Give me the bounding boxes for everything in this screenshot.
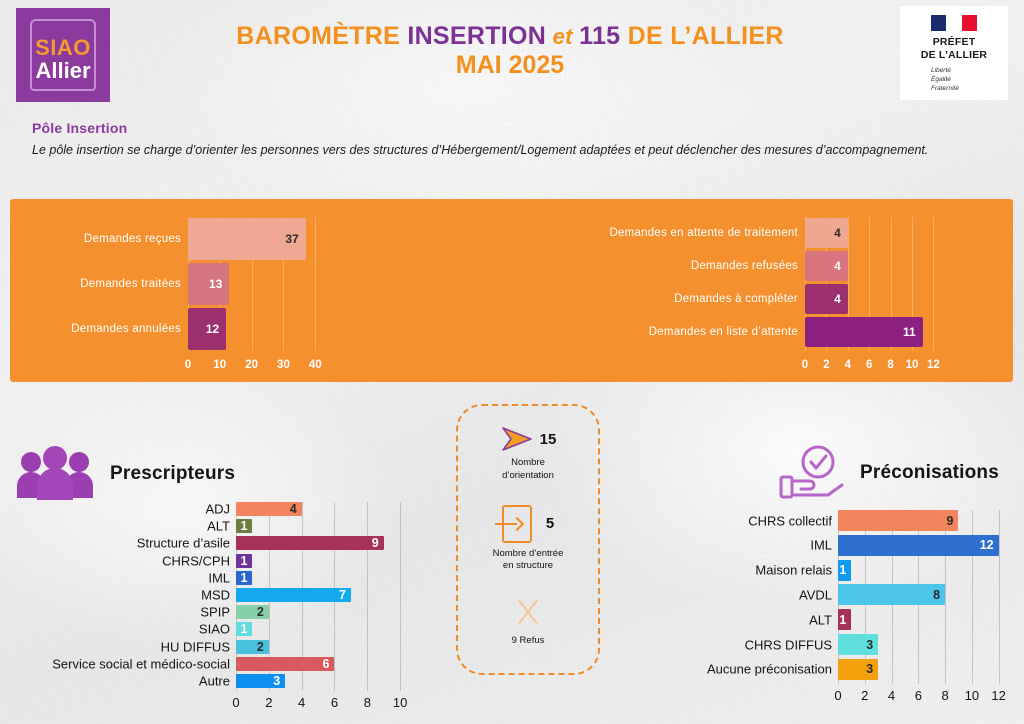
chart-preconisations: CHRS collectif9IML12Maison relais1AVDL8A… <box>838 510 1008 716</box>
card-item-orientation: 15 Nombre d’orientation <box>500 426 557 483</box>
entree-caption-1: Nombre d’entrée <box>493 548 564 561</box>
bar-label: Structure d’asile <box>137 536 230 551</box>
axis-tick: 0 <box>834 688 841 703</box>
bar-value: 4 <box>290 502 297 516</box>
chart-row: CHRS collectif9 <box>838 510 1008 531</box>
chart-row: SIAO1 <box>236 622 410 636</box>
demandes-panel: 37Demandes reçues13Demandes traitées12De… <box>10 199 1013 382</box>
entree-caption-2: en structure <box>493 560 564 573</box>
bar-label: IML <box>208 570 230 585</box>
axis-tick: 6 <box>331 695 338 710</box>
bar-chrs-cph: 1 <box>236 554 252 568</box>
axis-tick: 6 <box>915 688 922 703</box>
chart-demandes-droite: 4Demandes en attente de traitement4Deman… <box>805 199 942 382</box>
bar-value: 2 <box>257 640 264 654</box>
bar-chrs-diffus: 3 <box>838 634 878 655</box>
hand-check-icon <box>778 444 846 502</box>
bar-demandes-trait-es: 13 <box>188 263 229 305</box>
orientation-caption-2: d’orientation <box>502 470 554 483</box>
chart-row: IML12 <box>838 535 1008 556</box>
french-flag-icon <box>931 15 977 31</box>
axis-tick: 10 <box>906 359 919 371</box>
section-title-pole-insertion: Pôle Insertion <box>32 120 127 136</box>
bar-label: ADJ <box>205 502 230 517</box>
bar-value: 12 <box>980 538 994 552</box>
bar-label: ALT <box>207 519 230 534</box>
bar-hu-diffus: 2 <box>236 640 269 654</box>
axis-tick: 10 <box>213 359 226 371</box>
prefet-line1: PRÉFET <box>921 36 987 49</box>
bar-value: 2 <box>257 605 264 619</box>
axis-tick: 2 <box>823 359 829 371</box>
prefet-motto-2: Égalité <box>931 75 977 84</box>
bar-value: 11 <box>903 325 916 339</box>
axis-tick: 4 <box>845 359 851 371</box>
bar-value: 3 <box>866 662 873 676</box>
bar-label: Autre <box>199 674 230 689</box>
cross-icon <box>513 597 543 627</box>
bar-maison-relais: 1 <box>838 560 851 581</box>
siao-logo-line1: SIAO <box>35 37 91 59</box>
axis-tick: 0 <box>802 359 808 371</box>
bar-label: Demandes traitées <box>80 278 181 290</box>
chart-row: CHRS DIFFUS3 <box>838 634 1008 655</box>
title-part-barometre: BAROMÈTRE <box>236 22 407 50</box>
bar-label: Demandes refusées <box>691 260 798 272</box>
house-outline-icon: SIAO Allier <box>30 19 96 91</box>
bar-msd: 7 <box>236 588 351 602</box>
chart-row: HU DIFFUS2 <box>236 640 410 654</box>
bar-value: 9 <box>947 514 954 528</box>
chart-row: IML1 <box>236 571 410 585</box>
chart-prescripteurs: ADJ4ALT1Structure d’asile9CHRS/CPH1IML1M… <box>236 502 410 716</box>
x-axis: 024681012 <box>805 359 942 373</box>
bar-value: 1 <box>839 613 846 627</box>
axis-tick: 6 <box>866 359 872 371</box>
title-part-allier: DE L’ALLIER <box>620 22 783 50</box>
orientation-caption-1: Nombre <box>502 457 554 470</box>
bar-value: 4 <box>834 292 841 306</box>
bar-adj: 4 <box>236 502 302 516</box>
x-axis: 0246810 <box>236 695 410 711</box>
bar-structure-d-asile: 9 <box>236 536 384 550</box>
chart-row: SPIP2 <box>236 605 410 619</box>
refus-caption: 9 Refus <box>512 635 545 648</box>
section-description: Le pôle insertion se charge d’orienter l… <box>32 141 962 160</box>
chart-row: ADJ4 <box>236 502 410 516</box>
bar-alt: 1 <box>236 519 252 533</box>
axis-tick: 2 <box>265 695 272 710</box>
prefet-motto-1: Liberté <box>931 66 977 75</box>
entree-value: 5 <box>546 515 554 532</box>
bar-label: Maison relais <box>755 563 832 578</box>
axis-tick: 12 <box>991 688 1005 703</box>
chart-row: ALT1 <box>236 519 410 533</box>
bar-demandes-en-attente-de-traitement: 4 <box>805 218 848 248</box>
bar-value: 3 <box>273 674 280 688</box>
prefet-motto-3: Fraternité <box>931 84 977 93</box>
axis-tick: 20 <box>245 359 258 371</box>
people-group-icon <box>14 446 96 502</box>
bar-demandes-re-ues: 37 <box>188 218 306 260</box>
bar-label: ALT <box>809 612 832 627</box>
bar-demandes-compl-ter: 4 <box>805 284 848 314</box>
bar-label: HU DIFFUS <box>161 639 230 654</box>
siao-logo: SIAO Allier <box>16 8 110 102</box>
bar-label: IML <box>810 538 832 553</box>
bar-value: 37 <box>285 232 298 246</box>
prefet-line2: DE L’ALLIER <box>921 49 987 62</box>
axis-tick: 2 <box>861 688 868 703</box>
bar-label: Demandes à compléter <box>674 293 798 305</box>
chart-row: CHRS/CPH1 <box>236 554 410 568</box>
bar-label: CHRS/CPH <box>162 553 230 568</box>
bar-label: SIAO <box>199 622 230 637</box>
prescripteurs-header: Prescripteurs <box>14 446 235 502</box>
bar-value: 4 <box>834 259 841 273</box>
title-line-1: BAROMÈTRE INSERTION et 115 DE L’ALLIER <box>150 22 870 51</box>
chart-row: Autre3 <box>236 674 410 688</box>
axis-tick: 0 <box>232 695 239 710</box>
title-subtitle: MAI 2025 <box>150 51 870 80</box>
axis-tick: 0 <box>185 359 191 371</box>
bar-label: Demandes en attente de traitement <box>609 227 798 239</box>
bar-label: Aucune préconisation <box>707 662 832 677</box>
bar-value: 4 <box>834 226 841 240</box>
bar-label: AVDL <box>799 587 832 602</box>
bar-value: 12 <box>206 322 219 336</box>
axis-tick: 4 <box>298 695 305 710</box>
bar-value: 1 <box>839 563 846 577</box>
title-part-115: 115 <box>579 22 620 50</box>
bar-value: 1 <box>240 554 247 568</box>
bar-service-social-et-m-dico-social: 6 <box>236 657 334 671</box>
bar-avdl: 8 <box>838 584 945 605</box>
bar-value: 1 <box>240 519 247 533</box>
bar-label: Demandes reçues <box>84 233 181 245</box>
chart-demandes-gauche: 37Demandes reçues13Demandes traitées12De… <box>188 199 328 382</box>
bar-value: 7 <box>339 588 346 602</box>
axis-tick: 4 <box>888 688 895 703</box>
gridline <box>315 217 316 351</box>
preconisations-title: Préconisations <box>860 462 999 484</box>
bar-iml: 1 <box>236 571 252 585</box>
arrow-right-icon <box>500 426 534 452</box>
axis-tick: 8 <box>887 359 893 371</box>
prescripteurs-title: Prescripteurs <box>110 463 235 485</box>
chart-row: AVDL8 <box>838 584 1008 605</box>
chart-row: MSD7 <box>236 588 410 602</box>
enter-structure-icon <box>502 505 532 543</box>
bar-label: Service social et médico-social <box>52 656 230 671</box>
bar-label: Demandes en liste d’attente <box>649 326 798 338</box>
axis-tick: 10 <box>965 688 979 703</box>
title-part-et: et <box>546 24 579 49</box>
bar-autre: 3 <box>236 674 285 688</box>
page-title: BAROMÈTRE INSERTION et 115 DE L’ALLIER M… <box>150 22 870 80</box>
bar-demandes-annul-es: 12 <box>188 308 226 350</box>
orientation-summary-card: 15 Nombre d’orientation 5 Nombre d’entré… <box>456 404 600 675</box>
bar-label: MSD <box>201 588 230 603</box>
gridline <box>933 217 934 351</box>
bar-value: 6 <box>323 657 330 671</box>
bar-label: CHRS collectif <box>748 513 832 528</box>
bar-value: 8 <box>933 588 940 602</box>
axis-tick: 10 <box>393 695 407 710</box>
axis-tick: 8 <box>941 688 948 703</box>
bar-value: 13 <box>209 277 222 291</box>
chart-row: Structure d’asile9 <box>236 536 410 550</box>
preconisations-header: Préconisations <box>778 444 999 502</box>
bar-alt: 1 <box>838 609 851 630</box>
bar-label: CHRS DIFFUS <box>745 637 832 652</box>
bar-label: SPIP <box>200 605 230 620</box>
x-axis: 010203040 <box>188 359 328 373</box>
bar-spip: 2 <box>236 605 269 619</box>
bar-iml: 12 <box>838 535 999 556</box>
axis-tick: 12 <box>927 359 940 371</box>
bar-siao: 1 <box>236 622 252 636</box>
chart-row: Maison relais1 <box>838 560 1008 581</box>
axis-tick: 8 <box>364 695 371 710</box>
title-part-insertion: INSERTION <box>407 22 546 50</box>
bar-value: 1 <box>240 622 247 636</box>
bar-label: Demandes annulées <box>71 323 181 335</box>
bar-chrs-collectif: 9 <box>838 510 958 531</box>
bar-aucune-pr-conisation: 3 <box>838 659 878 680</box>
prefet-logo: PRÉFET DE L’ALLIER Liberté Égalité Frate… <box>900 6 1008 100</box>
bar-value: 1 <box>240 571 247 585</box>
card-item-entree: 5 Nombre d’entrée en structure <box>493 505 564 574</box>
chart-row: ALT1 <box>838 609 1008 630</box>
chart-row: Service social et médico-social6 <box>236 657 410 671</box>
bar-demandes-refus-es: 4 <box>805 251 848 281</box>
siao-logo-line2: Allier <box>35 59 90 83</box>
orientation-value: 15 <box>540 431 557 448</box>
x-axis: 024681012 <box>838 688 1008 704</box>
bar-value: 9 <box>372 536 379 550</box>
axis-tick: 40 <box>309 359 322 371</box>
chart-row: Aucune préconisation3 <box>838 659 1008 680</box>
bar-value: 3 <box>866 638 873 652</box>
card-item-refus: 9 Refus <box>512 597 545 648</box>
axis-tick: 30 <box>277 359 290 371</box>
bar-demandes-en-liste-d-attente: 11 <box>805 317 923 347</box>
